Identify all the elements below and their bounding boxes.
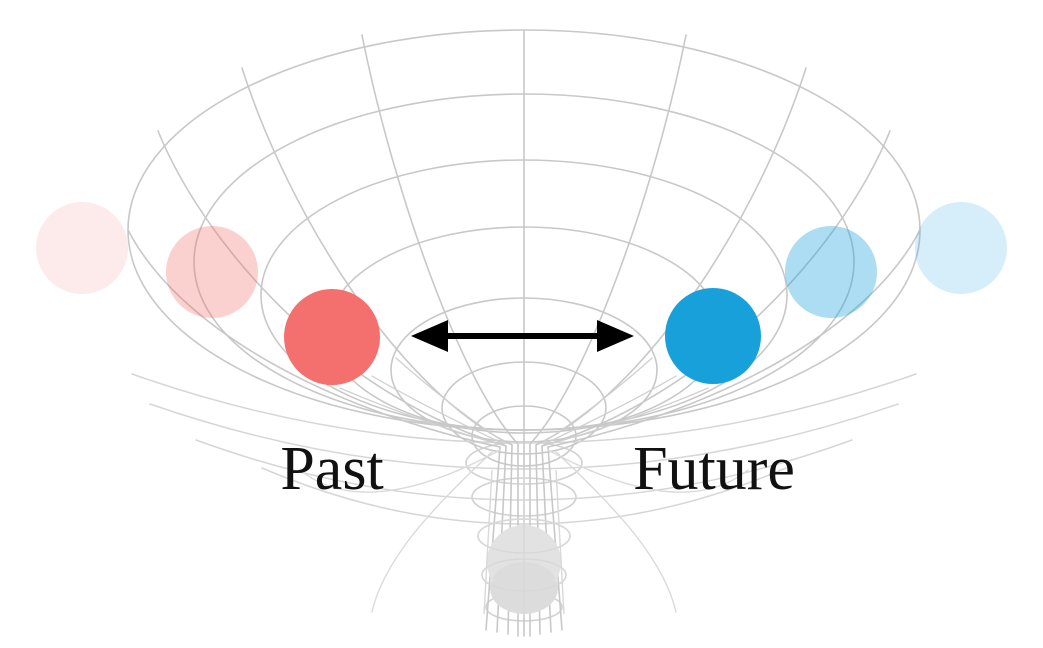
arrow-head-left-icon: [411, 320, 448, 352]
funnel-back-meridian-3: [372, 452, 492, 612]
past-marker-group: [36, 202, 380, 385]
funnel-throat-fan-right-1: [544, 376, 676, 444]
future-echo-2-circle: [785, 226, 877, 318]
future-marker-group: [665, 202, 1007, 384]
past-echo-2-circle: [166, 226, 258, 318]
double-headed-arrow: [411, 320, 634, 352]
past-solid-circle[interactable]: [284, 289, 380, 385]
future-label: Future: [633, 435, 795, 503]
future-solid-circle[interactable]: [665, 288, 761, 384]
funnel-throat-fan-left-1: [372, 376, 504, 444]
past-label: Past: [280, 435, 383, 503]
spacetime-funnel-figure: Past Future: [0, 0, 1043, 648]
figure-canvas: Past Future: [0, 0, 1043, 648]
past-echo-3-circle: [36, 202, 128, 294]
future-echo-3-circle: [915, 202, 1007, 294]
